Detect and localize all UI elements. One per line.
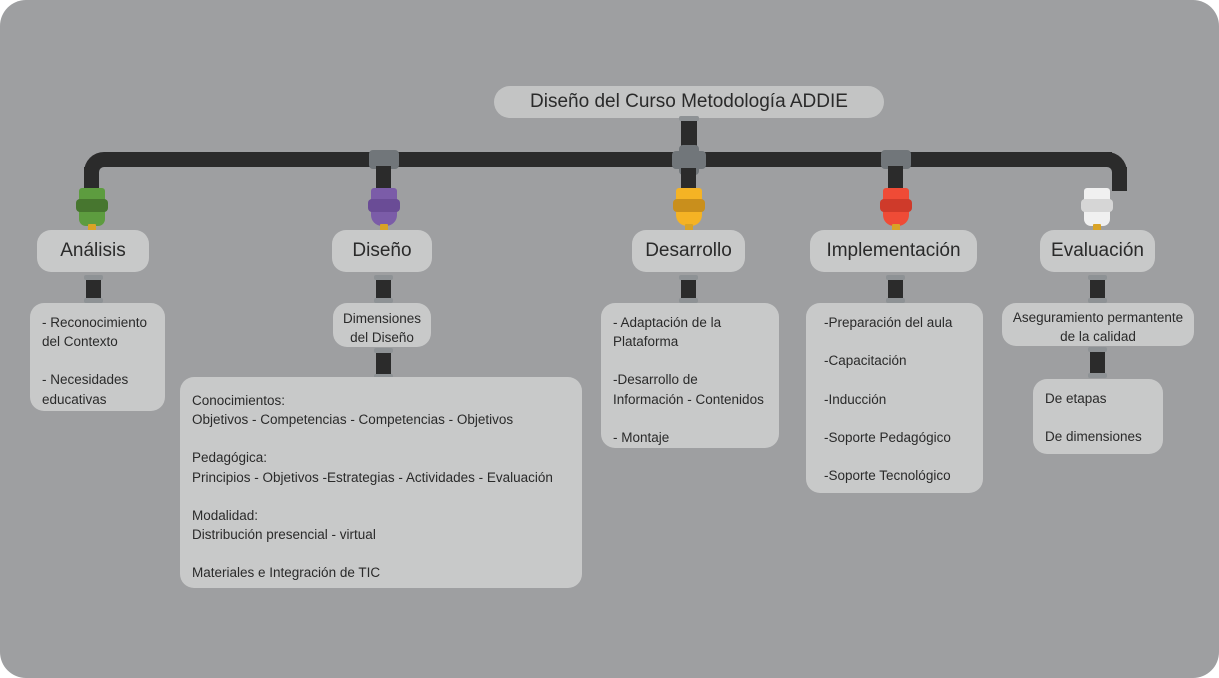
branch-label-evaluacion: Evaluación: [1051, 240, 1144, 262]
evaluacion-aseguramiento-box: Aseguramiento permantente de la calidad: [1002, 303, 1194, 346]
branch-node-diseno[interactable]: Diseño: [332, 230, 432, 272]
branch-node-implementacion[interactable]: Implementación: [810, 230, 977, 272]
diagram-title-label: Diseño del Curso Metodología ADDIE: [530, 91, 848, 113]
branch-node-analisis[interactable]: Análisis: [37, 230, 149, 272]
stem-diseno-2: [376, 350, 391, 377]
desarrollo-detail-box: - Adaptación de la Plataforma -Desarroll…: [601, 303, 779, 448]
implementacion-detail-box: -Preparación del aula -Capacitación -Ind…: [806, 303, 983, 493]
analisis-detail-box: - Reconocimiento del Contexto - Necesida…: [30, 303, 165, 411]
stem-evaluacion-1: [1090, 277, 1105, 301]
plug-diseno: [371, 188, 397, 226]
stem-diseno-1: [376, 277, 391, 301]
stem-evaluacion-2: [1090, 349, 1105, 376]
diagram-title-box: Diseño del Curso Metodología ADDIE: [494, 86, 884, 118]
drop-desarrollo: [681, 168, 696, 190]
diagram-canvas: Diseño del Curso Metodología ADDIE: [0, 0, 1219, 678]
branch-node-evaluacion[interactable]: Evaluación: [1040, 230, 1155, 272]
diseno-detail-box: Conocimientos: Objetivos - Competencias …: [180, 377, 582, 588]
branch-label-implementacion: Implementación: [826, 240, 960, 262]
branch-label-desarrollo: Desarrollo: [645, 240, 732, 262]
branch-node-desarrollo[interactable]: Desarrollo: [632, 230, 745, 272]
branch-label-diseno: Diseño: [352, 240, 411, 262]
plug-desarrollo: [676, 188, 702, 226]
stem-analisis-1: [86, 277, 101, 301]
branch-label-analisis: Análisis: [60, 240, 125, 262]
stem-desarrollo-1: [681, 277, 696, 301]
evaluacion-detail-box: De etapas De dimensiones: [1033, 379, 1163, 454]
plug-analisis: [79, 188, 105, 226]
drop-evaluacion: [1112, 167, 1127, 191]
plug-implementacion: [883, 188, 909, 226]
plug-evaluacion: [1084, 188, 1110, 226]
bus-bar: [106, 152, 1112, 167]
stem-implementacion-1: [888, 277, 903, 301]
diseno-dimensiones-box: Dimensiones del Diseño: [333, 303, 431, 347]
